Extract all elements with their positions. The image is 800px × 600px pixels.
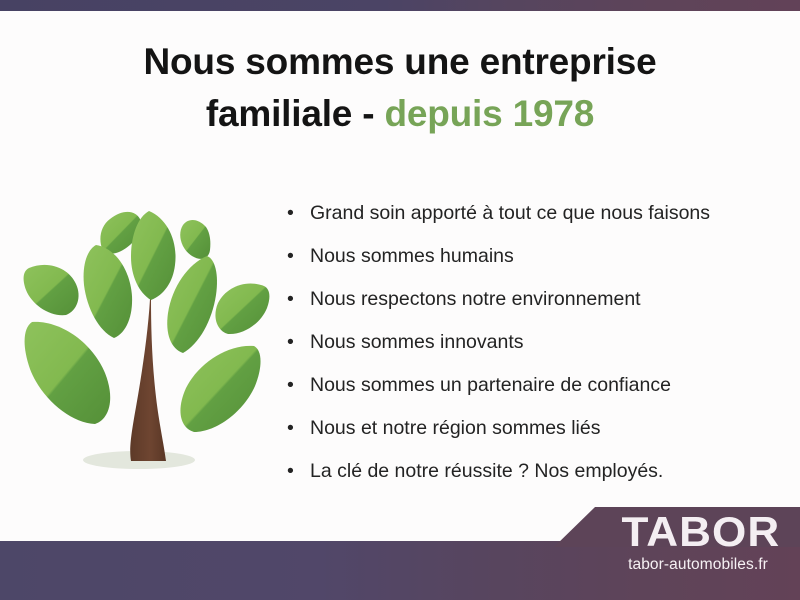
logo-wordmark: TABOR	[598, 510, 800, 554]
bullet-marker-icon: •	[287, 450, 294, 493]
bullet-marker-icon: •	[287, 192, 294, 235]
page-title: Nous sommes une entreprise familiale - d…	[0, 36, 800, 140]
tree-leaf	[25, 322, 111, 424]
bullet-marker-icon: •	[287, 321, 294, 364]
value-bullet-list: •Grand soin apporté à tout ce que nous f…	[284, 192, 784, 493]
tree-trunk	[130, 299, 166, 461]
list-item-label: Nous respectons notre environnement	[310, 288, 641, 310]
tree-leaf	[215, 283, 269, 334]
tree-leaf	[131, 211, 176, 300]
tree-illustration-svg	[18, 183, 272, 485]
list-item: •Nous respectons notre environnement	[284, 278, 784, 321]
list-item-label: Nous et notre région sommes liés	[310, 417, 600, 439]
list-item: •Nous et notre région sommes liés	[284, 407, 784, 450]
tree-leaf	[180, 220, 210, 259]
tree-leaf	[180, 346, 260, 432]
headline-line-1: Nous sommes une entreprise	[144, 41, 657, 82]
bullet-marker-icon: •	[287, 235, 294, 278]
list-item: •La clé de notre réussite ? Nos employés…	[284, 450, 784, 493]
tree-leaf	[84, 245, 133, 338]
list-item-label: Nous sommes humains	[310, 245, 514, 267]
bullet-marker-icon: •	[287, 278, 294, 321]
bullet-marker-icon: •	[287, 407, 294, 450]
list-item: •Nous sommes humains	[284, 235, 784, 278]
headline-line-2: familiale - depuis 1978	[0, 88, 800, 140]
headline-accent: depuis 1978	[384, 93, 594, 134]
list-item: •Grand soin apporté à tout ce que nous f…	[284, 192, 784, 235]
slide-canvas: Nous sommes une entreprise familiale - d…	[0, 0, 800, 600]
list-item: •Nous sommes innovants	[284, 321, 784, 364]
bullet-marker-icon: •	[287, 364, 294, 407]
tree-illustration	[18, 183, 272, 485]
list-item-label: Nous sommes un partenaire de confiance	[310, 374, 671, 396]
headline-line-2-prefix: familiale -	[206, 93, 385, 134]
logo-website-url: tabor-automobiles.fr	[602, 555, 794, 575]
top-accent-band	[0, 0, 800, 11]
list-item: •Nous sommes un partenaire de confiance	[284, 364, 784, 407]
brand-logo[interactable]: TABOR tabor-automobiles.fr	[598, 510, 794, 586]
list-item-label: La clé de notre réussite ? Nos employés.	[310, 460, 663, 482]
list-item-label: Nous sommes innovants	[310, 331, 524, 353]
list-item-label: Grand soin apporté à tout ce que nous fa…	[310, 202, 710, 224]
tree-leaf	[167, 256, 217, 353]
tree-leaf	[24, 265, 79, 315]
